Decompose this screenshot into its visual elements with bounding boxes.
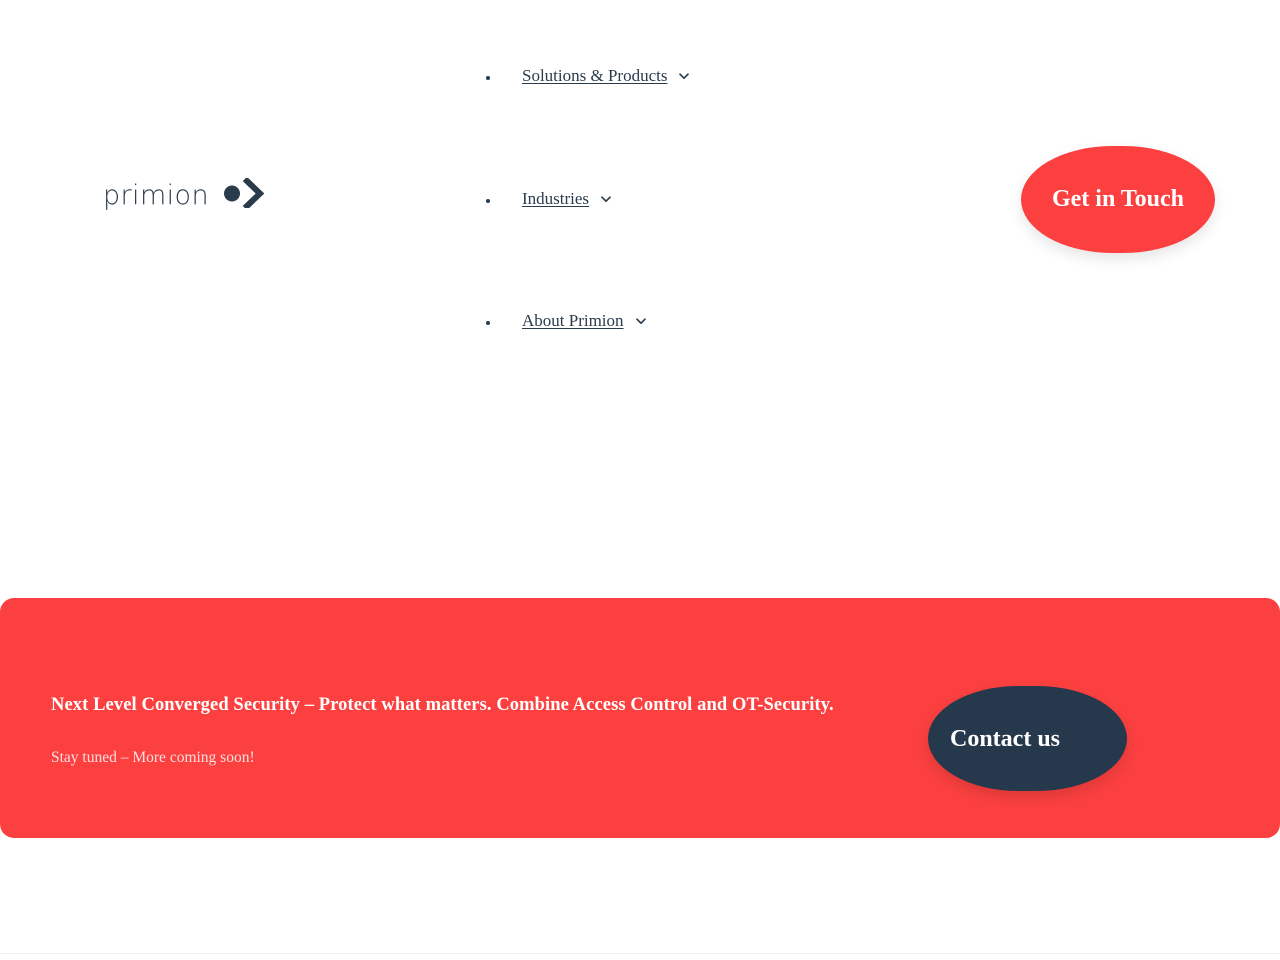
chevron-down-icon[interactable] [599,192,613,206]
nav-item-solutions-products[interactable]: Solutions & Products [500,63,691,88]
primion-dot-chevron-logo-icon [223,178,267,213]
nav-item-label[interactable]: Solutions & Products [522,63,667,88]
nav-item-about-primion[interactable]: About Primion [500,308,648,333]
promo-text-block: Next Level Converged Security – Protect … [51,692,851,769]
contact-us-button[interactable]: Contact us [928,686,1127,791]
get-in-touch-button-label: Get in Touch [1052,185,1184,214]
contact-us-button-label: Contact us [950,726,1060,752]
nav-item-industries[interactable]: Industries [500,186,613,211]
site-header: primion Solutions & Products [0,0,1280,598]
brand-logo[interactable]: primion [103,178,267,213]
nav-item-label[interactable]: About Primion [522,308,624,333]
chevron-down-icon[interactable] [634,314,648,328]
promo-headline: Next Level Converged Security – Protect … [51,692,851,718]
chevron-down-icon[interactable] [677,69,691,83]
footer-divider [0,953,1280,954]
brand-name: primion [103,182,209,209]
nav-item-label[interactable]: Industries [522,186,589,211]
get-in-touch-button[interactable]: Get in Touch [1021,146,1215,253]
promo-subtext: Stay tuned – More coming soon! [51,718,851,769]
